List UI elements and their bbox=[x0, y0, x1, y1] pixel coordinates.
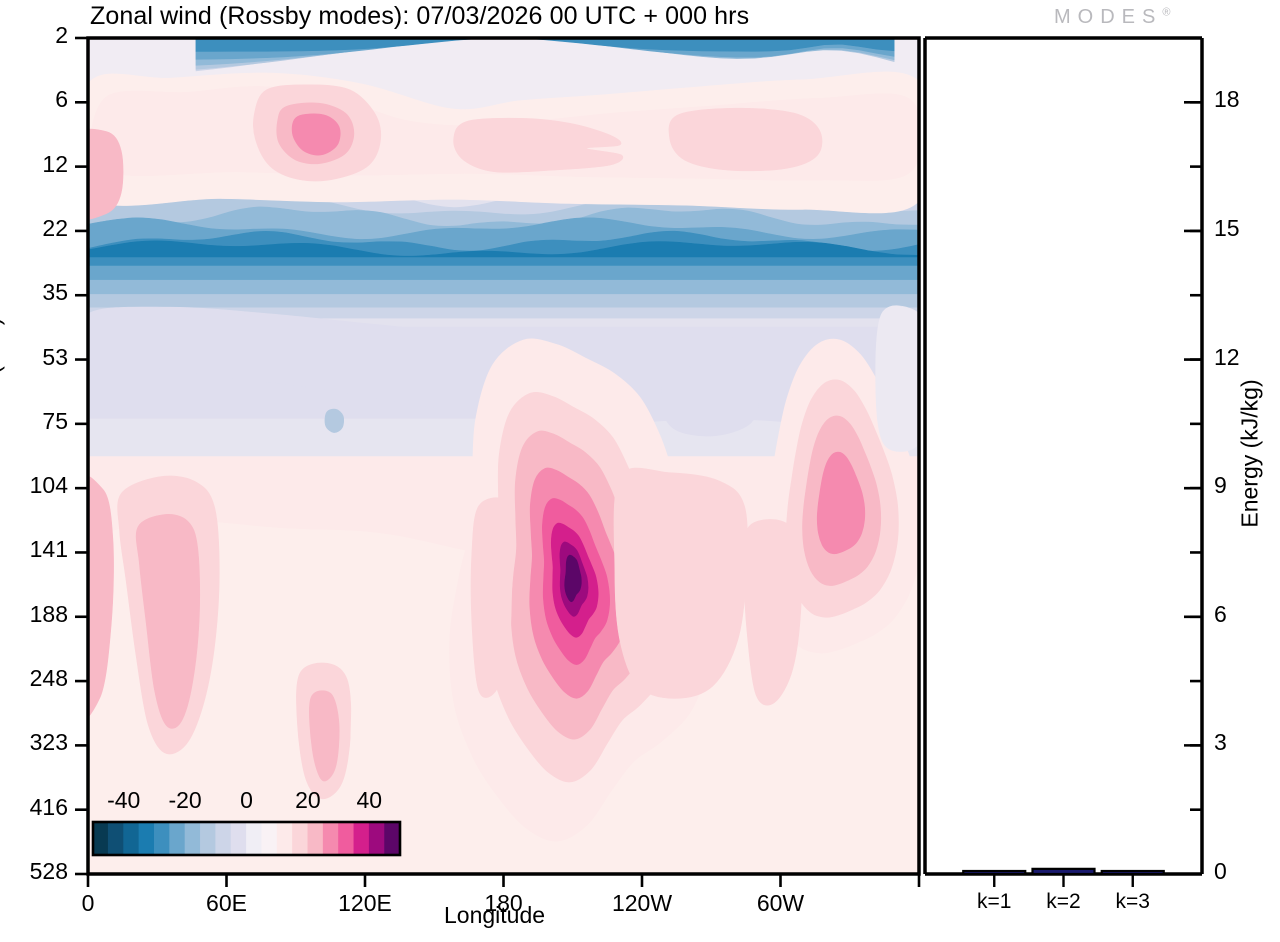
y-tick-label: 6 bbox=[0, 86, 68, 113]
y-tick-label: 2 bbox=[0, 22, 68, 49]
y-tick-label: 528 bbox=[0, 858, 68, 885]
x-tick-label: 120W bbox=[582, 890, 702, 917]
x-tick-label: 180 bbox=[444, 890, 564, 917]
y-tick-label: 75 bbox=[0, 408, 68, 435]
colorbar bbox=[93, 822, 401, 855]
y-tick-label: 53 bbox=[0, 344, 68, 371]
x-tick-label: 120E bbox=[305, 890, 425, 917]
y-tick-label: 35 bbox=[0, 279, 68, 306]
x-tick-label: 60W bbox=[721, 890, 841, 917]
y-tick-label: 323 bbox=[0, 729, 68, 756]
energy-tick-label: 6 bbox=[1214, 601, 1227, 628]
y-tick-label: 22 bbox=[0, 215, 68, 242]
x-axis-ticks bbox=[88, 874, 919, 887]
energy-tick-label: 12 bbox=[1214, 344, 1240, 371]
y-tick-label: 104 bbox=[0, 472, 68, 499]
energy-category-ticks bbox=[994, 874, 1133, 887]
energy-tick-label: 18 bbox=[1214, 86, 1240, 113]
energy-panel bbox=[925, 38, 1202, 887]
energy-category-label: k=3 bbox=[1083, 890, 1183, 914]
y-tick-label: 141 bbox=[0, 536, 68, 563]
figure-root: Zonal wind (Rossby modes): 07/03/2026 00… bbox=[0, 0, 1280, 942]
energy-tick-label: 15 bbox=[1214, 215, 1240, 242]
y-tick-label: 248 bbox=[0, 665, 68, 692]
y-axis-ticks bbox=[75, 38, 88, 874]
y-tick-label: 188 bbox=[0, 601, 68, 628]
y-tick-label: 416 bbox=[0, 794, 68, 821]
x-tick-label: 60E bbox=[167, 890, 287, 917]
x-tick-label: 0 bbox=[28, 890, 148, 917]
energy-tick-label: 9 bbox=[1214, 472, 1227, 499]
energy-tick-label: 3 bbox=[1214, 729, 1227, 756]
y-tick-label: 12 bbox=[0, 151, 68, 178]
colorbar-tick-label: 40 bbox=[319, 787, 419, 814]
energy-tick-label: 0 bbox=[1214, 858, 1227, 885]
